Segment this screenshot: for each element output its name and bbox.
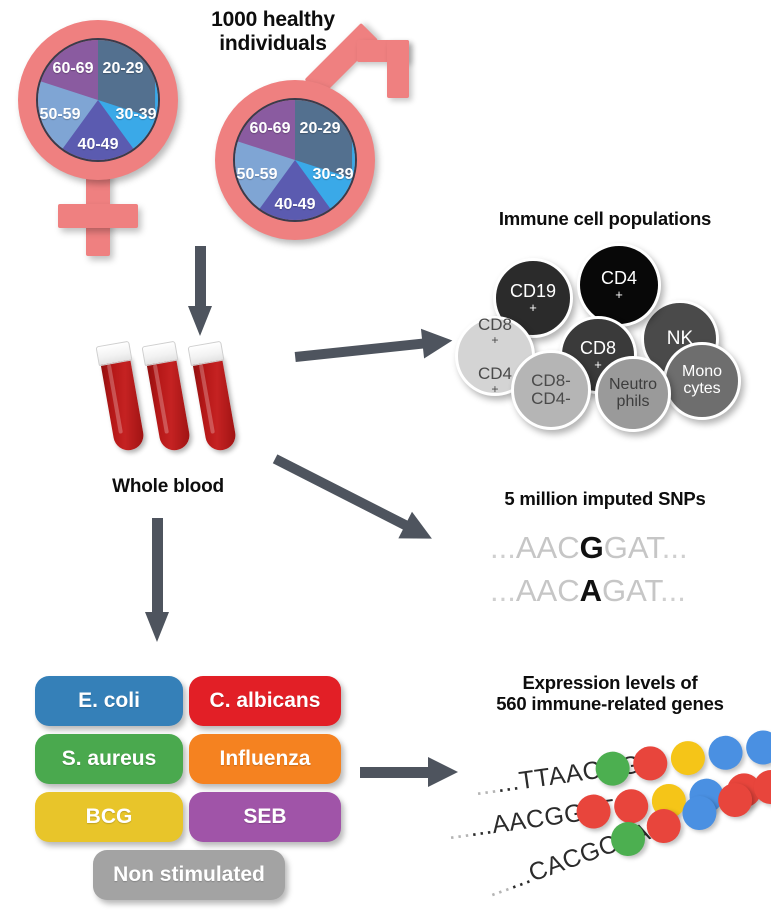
immune-cell-cluster: CD19+ CD4+ CD8+CD4+ CD8+ NK CD8-CD4- Neu…: [455, 238, 755, 418]
stimuli-panel: E. coli C. albicans S. aureus Influenza …: [30, 676, 345, 896]
pie-label-60-69: 60-69: [250, 120, 291, 138]
rna-bead: [706, 734, 744, 772]
cell-bubble-cd4: CD4+: [577, 243, 661, 327]
arrow-head: [428, 757, 458, 787]
rna-bead: [744, 728, 771, 766]
rna-strands-block: ......TTAACGG ......AACGGAT ......CACGCA…: [460, 742, 771, 912]
arrow-head: [421, 326, 454, 359]
snp-sequence-block: ...AACGGAT... ...AACAGAT...: [490, 530, 750, 620]
stimulus-box-non-stimulated[interactable]: Non stimulated: [93, 850, 285, 900]
blood-tube: [189, 341, 237, 453]
diagram-canvas: 1000 healthy individuals 20-29 30-39 40-…: [0, 0, 771, 922]
arrow-head: [188, 306, 212, 336]
arrow-stimuli-to-expression: [360, 752, 470, 792]
expression-title: Expression levels of 560 immune-related …: [455, 672, 765, 715]
pie-label-30-39: 30-39: [116, 106, 157, 124]
cell-label-neutrophils: Neutrophils: [609, 377, 657, 411]
expression-title-line-2: 560 immune-related genes: [455, 693, 765, 714]
pie-label-20-29: 20-29: [103, 60, 144, 78]
pie-label-30-39: 30-39: [313, 166, 354, 184]
snp-variant-allele: G: [580, 530, 604, 565]
snp-sequence-row: ...AACGGAT...: [490, 530, 688, 566]
snp-suffix: ...: [660, 573, 686, 608]
whole-blood-tubes: [110, 336, 270, 466]
expression-title-line-1: Expression levels of: [455, 672, 765, 693]
arrow-shaft: [195, 246, 206, 310]
arrow-blood-to-immune-cells: [292, 313, 461, 380]
arrow-blood-to-stimuli: [140, 518, 176, 643]
cell-label-cd8neg-cd4neg: CD8-CD4-: [531, 372, 571, 408]
arrow-cohort-to-blood: [186, 246, 216, 336]
male-symbol: 20-29 30-39 40-49 50-59 60-69: [205, 40, 405, 245]
arrow-shaft: [273, 454, 411, 531]
pie-label-20-29: 20-29: [300, 120, 341, 138]
blood-tube: [143, 341, 191, 453]
pie-label-50-59: 50-59: [40, 106, 81, 124]
female-symbol: 20-29 30-39 40-49 50-59 60-69: [8, 14, 188, 259]
stimulus-box-bcg[interactable]: BCG: [35, 792, 183, 842]
male-symbol-arrowhead-side: [387, 40, 409, 98]
snp-variant-allele: A: [580, 573, 602, 608]
cell-label-cd4: CD4+: [601, 269, 637, 301]
stimulus-box-s-aureus[interactable]: S. aureus: [35, 734, 183, 784]
snp-right: GAT: [602, 573, 660, 608]
cell-bubble-monocytes: Monocytes: [663, 342, 741, 420]
cell-label-cd19: CD19+: [510, 282, 556, 314]
snps-title: 5 million imputed SNPs: [455, 488, 755, 509]
arrow-shaft: [360, 767, 432, 778]
snp-prefix: ...: [490, 573, 516, 608]
snp-sequence-row: ...AACAGAT...: [490, 573, 686, 609]
title-line-1: 1000 healthy: [168, 8, 378, 32]
cell-label-cd8pos-cd4pos: CD8+CD4+: [478, 316, 512, 395]
cell-bubble-neutrophils: Neutrophils: [595, 356, 671, 432]
stimulus-box-c-albicans[interactable]: C. albicans: [189, 676, 341, 726]
arrow-blood-to-snps: [265, 435, 453, 564]
pie-label-40-49: 40-49: [275, 196, 316, 214]
stimulus-box-influenza[interactable]: Influenza: [189, 734, 341, 784]
stimulus-box-seb[interactable]: SEB: [189, 792, 341, 842]
stimulus-box-e-coli[interactable]: E. coli: [35, 676, 183, 726]
snp-suffix: ...: [662, 530, 688, 565]
immune-cell-populations-title: Immune cell populations: [455, 208, 755, 229]
blood-tube: [97, 341, 145, 453]
pie-label-50-59: 50-59: [237, 166, 278, 184]
snp-prefix: ...: [490, 530, 516, 565]
snp-right: GAT: [604, 530, 662, 565]
whole-blood-label: Whole blood: [78, 476, 258, 498]
pie-label-60-69: 60-69: [53, 60, 94, 78]
rna-bead: [749, 765, 771, 809]
arrow-head: [398, 512, 438, 552]
snp-left: AAC: [516, 573, 580, 608]
arrow-head: [145, 612, 169, 642]
female-symbol-crossbar: [58, 204, 138, 228]
rna-bead: [669, 739, 707, 777]
cell-label-monocytes: Monocytes: [682, 364, 722, 398]
cell-bubble-cd8neg-cd4neg: CD8-CD4-: [511, 350, 591, 430]
arrow-shaft: [295, 338, 427, 362]
pie-label-40-49: 40-49: [78, 136, 119, 154]
snp-left: AAC: [516, 530, 580, 565]
arrow-shaft: [152, 518, 163, 616]
